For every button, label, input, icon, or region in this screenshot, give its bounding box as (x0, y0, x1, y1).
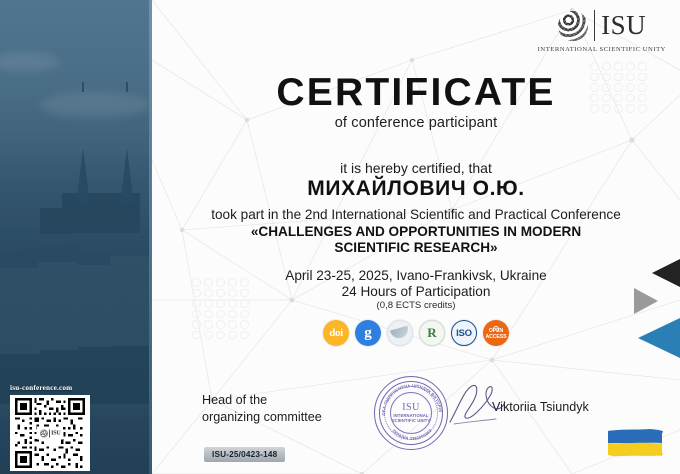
open-access-icon[interactable]: OPEN ACCESS (483, 320, 509, 346)
isu-full-name: INTERNATIONAL SCIENTIFIC UNITY (538, 46, 666, 53)
isu-logo: ISU INTERNATIONAL SCIENTIFIC UNITY (538, 10, 666, 53)
google-scholar-icon[interactable]: g (355, 320, 381, 346)
conference-title-line1: «CHALLENGES AND OPPORTUNITIES IN MODERN (152, 224, 680, 239)
participation-line: took part in the 2nd International Scien… (152, 207, 680, 222)
open-access-label: OPEN ACCESS (483, 329, 509, 340)
recipient-name: МИХАЙЛОВИЧ О.Ю. (152, 177, 680, 201)
isu-acronym: ISU (601, 12, 646, 39)
researchbib-label: R (427, 325, 436, 341)
certificate-subtitle: of conference participant (152, 115, 680, 131)
conference-title-line2: SCIENTIFIC RESEARCH» (152, 240, 680, 255)
doi-label: doi (329, 327, 342, 339)
crossref-swoosh (390, 326, 410, 341)
ects-credits-line: (0,8 ECTS credits) (152, 300, 680, 311)
doi-icon[interactable]: doi (323, 320, 349, 346)
qr-code[interactable]: ISU (10, 395, 90, 471)
iso-label: ISO (456, 328, 472, 339)
iso-icon[interactable]: ISO (451, 320, 477, 346)
crossref-icon[interactable] (387, 320, 413, 346)
qr-isu-acronym: ISU (51, 430, 60, 436)
globe-icon (558, 11, 588, 41)
date-location-line: April 23-25, 2025, Ivano-Frankivsk, Ukra… (152, 268, 680, 283)
city-photo-panel: isu-conference.com (0, 0, 152, 474)
certificate-body: ISU INTERNATIONAL SCIENTIFIC UNITY CERTI… (152, 0, 680, 474)
hours-line: 24 Hours of Participation (152, 284, 680, 299)
divider (49, 429, 50, 437)
google-scholar-label: g (364, 326, 372, 341)
isu-logo-row: ISU (558, 10, 647, 41)
researchbib-icon[interactable]: R (419, 320, 445, 346)
logo-divider (594, 10, 596, 41)
hereby-line: it is hereby certified, that (152, 160, 680, 176)
page-title: CERTIFICATE (152, 73, 680, 112)
indexing-badges-row: doi g R ISO OPEN ACCESS (152, 320, 680, 346)
qr-center-isu-logo: ISU (37, 427, 63, 440)
certificate-document: isu-conference.com (0, 0, 680, 474)
globe-icon (40, 429, 48, 437)
certificate-text-content: CERTIFICATE of conference participant it… (152, 0, 680, 474)
website-url: isu-conference.com (10, 384, 94, 392)
qr-block: isu-conference.com (10, 384, 94, 471)
